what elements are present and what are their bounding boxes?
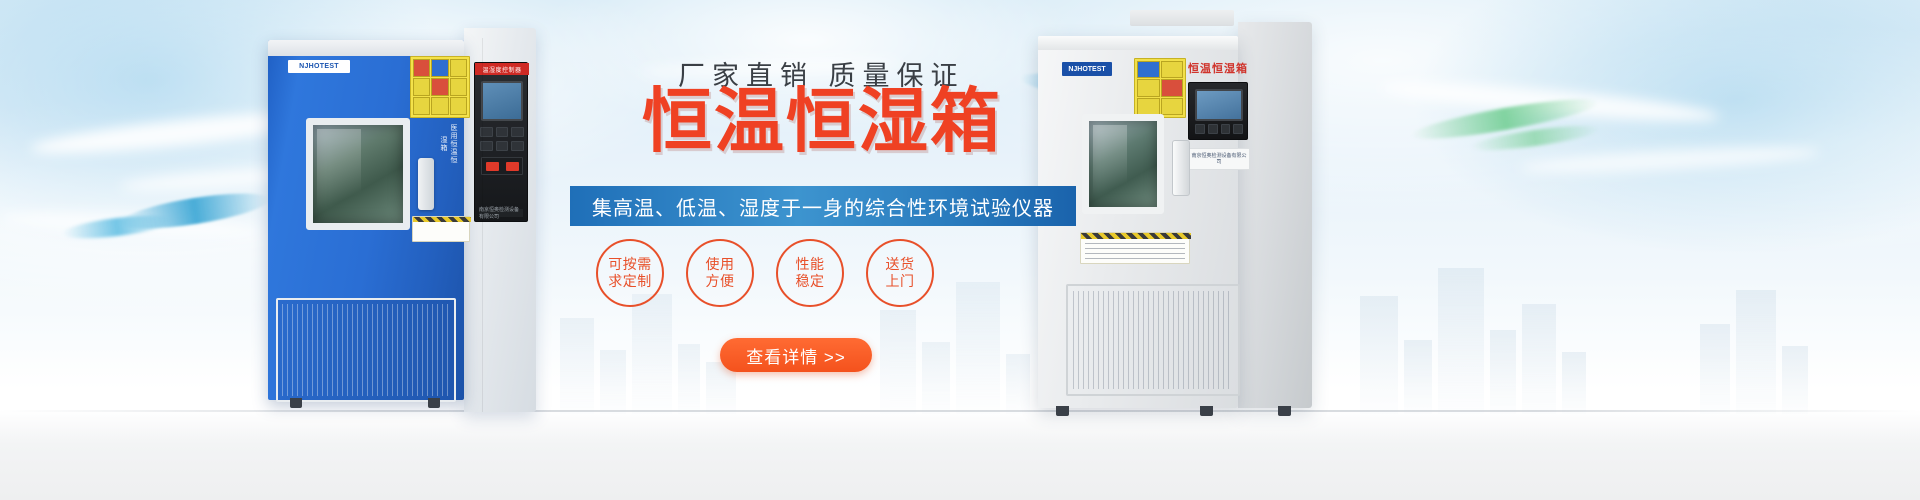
- ventilation-grille: [1073, 291, 1233, 389]
- badge-line-1: 使用: [706, 256, 735, 274]
- control-panel-buttons: [480, 141, 524, 151]
- panel-seam: [482, 38, 483, 412]
- chamber-foot: [1278, 406, 1291, 416]
- control-panel-buttons: [1195, 124, 1243, 134]
- plate-text-lines: [1085, 243, 1185, 260]
- window-glare: [317, 129, 361, 225]
- right-chamber-top-cap: [1130, 10, 1234, 26]
- left-chamber-door-text: 医用恒温恒湿箱: [420, 124, 458, 164]
- warning-sticker-right: [1134, 58, 1186, 118]
- left-chamber-top: [268, 40, 464, 56]
- left-chamber-window: [306, 118, 410, 230]
- right-chamber-hazard-plate: [1080, 232, 1190, 264]
- control-panel-led-readout: [481, 157, 523, 175]
- control-panel-footer: 南京恒奥检测设备有限公司: [479, 209, 523, 217]
- control-panel-screen: [1195, 89, 1243, 121]
- right-chamber-control-panel: [1188, 82, 1248, 140]
- promo-banner: NJHOTEST 医用恒温恒湿箱 温湿度控制器 南京恒奥检测设: [0, 0, 1920, 500]
- warning-sticker-left: [410, 56, 470, 118]
- chamber-foot: [1200, 406, 1213, 416]
- hazard-stripe: [1081, 233, 1191, 239]
- badge-line-2: 求定制: [608, 273, 652, 291]
- right-chamber-door-handle: [1172, 140, 1190, 196]
- banner-subtitle-text: 集高温、低温、湿度于一身的综合性环境试验仪器: [592, 192, 1054, 221]
- feature-badge-list: 可按需 求定制 使用 方便 性能 稳定 送货 上门: [596, 234, 1056, 312]
- banner-copy-block: 厂家直销 质量保证 恒温恒湿箱 集高温、低温、湿度于一身的综合性环境试验仪器 可…: [560, 0, 1080, 500]
- window-glare: [1093, 125, 1127, 211]
- view-details-button[interactable]: 查看详情 >>: [720, 338, 872, 372]
- right-chamber-side-panel: [1238, 22, 1312, 408]
- badge-line-1: 性能: [796, 256, 825, 274]
- right-chamber-window: [1082, 114, 1164, 214]
- right-chamber-lower-unit: [1066, 284, 1240, 396]
- feature-badge-custom[interactable]: 可按需 求定制: [596, 239, 664, 307]
- left-chamber-hazard-plate: [412, 216, 470, 242]
- left-chamber-brand-label: NJHOTEST: [288, 60, 350, 73]
- product-image-left: NJHOTEST 医用恒温恒湿箱 温湿度控制器 南京恒奥检测设: [268, 28, 536, 400]
- left-chamber-lower-unit: [276, 298, 456, 402]
- control-panel-screen: [481, 81, 523, 121]
- right-chamber-title-plate: 恒温恒湿箱: [1188, 58, 1248, 78]
- left-chamber-body: NJHOTEST 医用恒温恒湿箱: [268, 40, 464, 400]
- badge-line-2: 稳定: [796, 273, 825, 291]
- feature-badge-easy-use[interactable]: 使用 方便: [686, 239, 754, 307]
- badge-line-1: 送货: [886, 256, 915, 274]
- badge-line-1: 可按需: [608, 256, 652, 274]
- control-panel-buttons: [480, 127, 524, 137]
- badge-line-2: 上门: [886, 273, 915, 291]
- banner-headline: 恒温恒湿箱: [572, 86, 1072, 156]
- left-chamber-door-handle: [418, 158, 434, 210]
- chamber-foot: [428, 398, 440, 408]
- right-chamber-sub-label: 南京恒奥检测设备有限公司: [1188, 148, 1250, 170]
- feature-badge-stable[interactable]: 性能 稳定: [776, 239, 844, 307]
- feature-badge-delivery[interactable]: 送货 上门: [866, 239, 934, 307]
- banner-subtitle-bar: 集高温、低温、湿度于一身的综合性环境试验仪器: [570, 186, 1076, 226]
- hazard-stripe: [413, 217, 471, 222]
- chamber-foot: [290, 398, 302, 408]
- ventilation-grille: [282, 304, 450, 396]
- control-panel-header: 温湿度控制器: [475, 63, 529, 75]
- badge-line-2: 方便: [706, 273, 735, 291]
